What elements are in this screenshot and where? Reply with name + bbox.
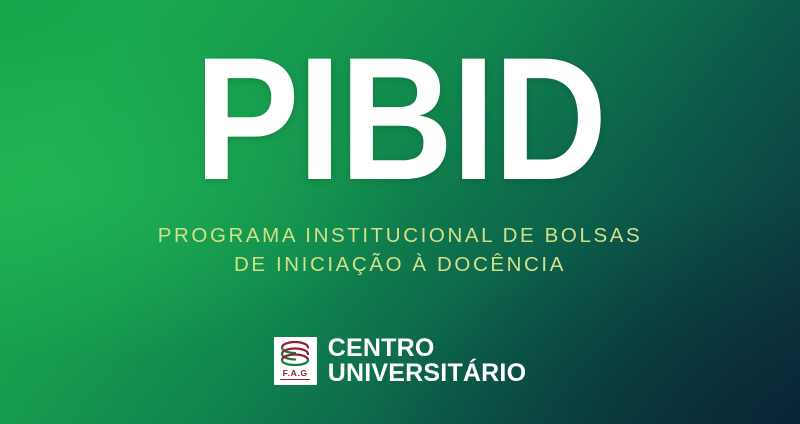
institution-logo-lockup: F.A.G CENTRO UNIVERSITÁRIO <box>0 336 800 385</box>
fag-acronym-label: F.A.G <box>283 368 308 378</box>
subtitle-line-2: DE INICIAÇÃO À DOCÊNCIA <box>0 250 800 279</box>
institution-name: CENTRO UNIVERSITÁRIO <box>328 336 526 385</box>
fag-logo-icon: F.A.G <box>274 337 317 385</box>
pibid-promotional-banner: PIBID PROGRAMA INSTITUCIONAL DE BOLSAS D… <box>0 0 800 424</box>
subtitle-line-1: PROGRAMA INSTITUCIONAL DE BOLSAS <box>0 221 800 250</box>
institution-name-line-2: UNIVERSITÁRIO <box>328 361 526 386</box>
institution-name-line-1: CENTRO <box>328 336 526 361</box>
fag-logo-rule <box>280 379 310 380</box>
page-title: PIBID <box>40 40 760 200</box>
program-subtitle: PROGRAMA INSTITUCIONAL DE BOLSAS DE INIC… <box>0 221 800 279</box>
fag-stacked-arcs-icon <box>278 341 312 366</box>
